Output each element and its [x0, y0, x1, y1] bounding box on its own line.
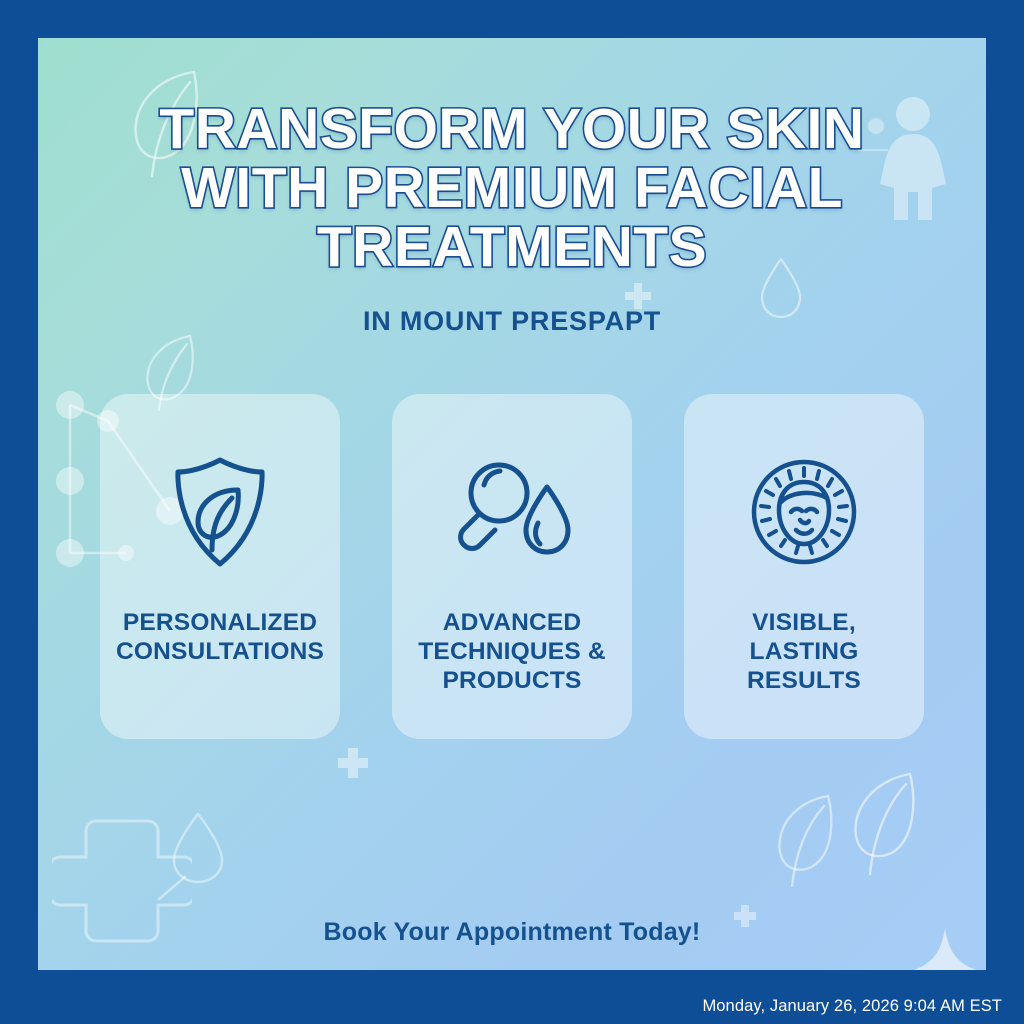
feature-card-personalized-consultations: PERSONALIZED CONSULTATIONS	[100, 394, 340, 739]
magnifier-droplet-icon	[448, 452, 576, 572]
headline-line-1: TRANSFORM YOUR SKIN	[38, 100, 986, 159]
feature-card-visible-results: VISIBLE, LASTING RESULTS	[684, 394, 924, 739]
poster: TRANSFORM YOUR SKIN WITH PREMIUM FACIAL …	[0, 0, 1024, 1024]
shield-leaf-icon	[168, 452, 272, 572]
feature-label-line-2: CONSULTATIONS	[116, 638, 324, 665]
feature-card-list: PERSONALIZED CONSULTATIONS	[100, 394, 924, 739]
feature-label-line-3: PRODUCTS	[442, 667, 581, 694]
page-title: TRANSFORM YOUR SKIN WITH PREMIUM FACIAL …	[38, 100, 986, 277]
subheadline: IN MOUNT PRESPAPT	[38, 306, 986, 337]
headline-line-3: TREATMENTS	[38, 218, 986, 277]
feature-label-line-2: TECHNIQUES &	[418, 638, 606, 665]
feature-card-label: ADVANCED TECHNIQUES & PRODUCTS	[406, 608, 618, 695]
feature-label-line-1: ADVANCED	[443, 609, 582, 636]
radiant-face-icon	[748, 452, 860, 572]
feature-label-line-1: PERSONALIZED	[123, 609, 317, 636]
timestamp: Monday, January 26, 2026 9:04 AM EST	[702, 997, 1002, 1016]
leaf-outline-icon	[838, 766, 930, 888]
droplet-outline-icon	[156, 808, 226, 900]
poster-canvas: TRANSFORM YOUR SKIN WITH PREMIUM FACIAL …	[38, 38, 986, 970]
feature-card-advanced-techniques: ADVANCED TECHNIQUES & PRODUCTS	[392, 394, 632, 739]
plus-icon	[336, 746, 370, 780]
feature-card-label: PERSONALIZED CONSULTATIONS	[114, 608, 326, 666]
feature-card-label: VISIBLE, LASTING RESULTS	[698, 608, 910, 695]
feature-label-line-1: VISIBLE,	[752, 609, 856, 636]
feature-label-line-2: LASTING RESULTS	[747, 638, 861, 694]
headline-line-2: WITH PREMIUM FACIAL	[38, 159, 986, 218]
leaf-outline-icon	[764, 786, 846, 898]
cta-text: Book Your Appointment Today!	[38, 918, 986, 947]
